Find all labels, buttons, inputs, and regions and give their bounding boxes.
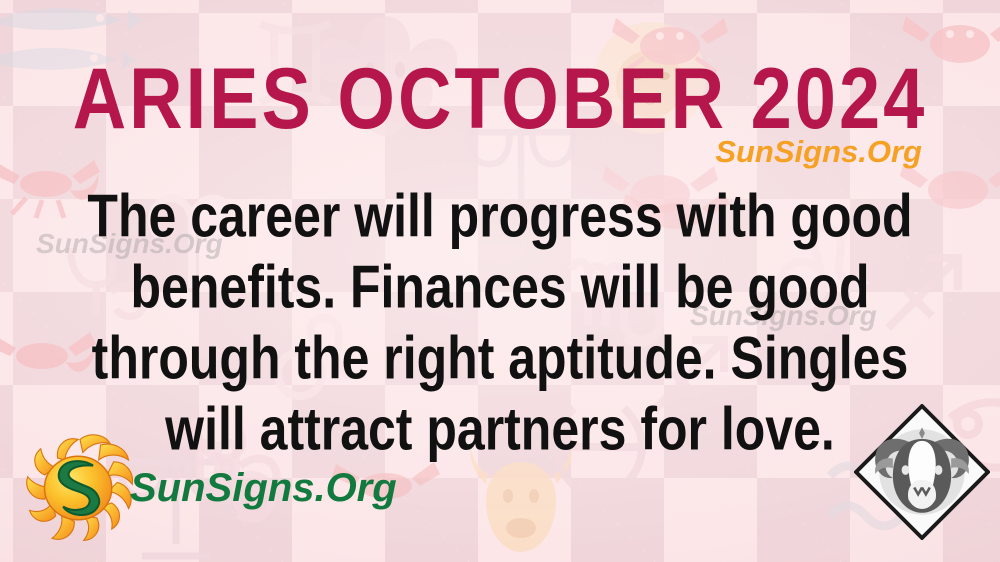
horoscope-banner: SunSigns.Org SunSigns.Org ARIES OCTOBER …	[0, 0, 1000, 562]
aries-ram-emblem	[854, 404, 990, 540]
body-line: benefits. Finances will be good	[34, 257, 966, 317]
sunsigns-logo[interactable]: SunSigns.Org	[24, 432, 397, 544]
banner-title-text: ARIES OCTOBER 2024	[73, 56, 928, 142]
brand-top-label: SunSigns.Org	[715, 134, 922, 170]
body-line: through the right aptitude. Singles	[34, 328, 966, 388]
horoscope-body-text: The career will progress with good benef…	[34, 186, 966, 470]
sunsigns-logo-wordmark: SunSigns.Org	[130, 466, 397, 511]
sun-logo-icon	[24, 432, 136, 544]
body-line: The career will progress with good	[34, 186, 966, 246]
banner-title: ARIES OCTOBER 2024	[0, 56, 1000, 130]
